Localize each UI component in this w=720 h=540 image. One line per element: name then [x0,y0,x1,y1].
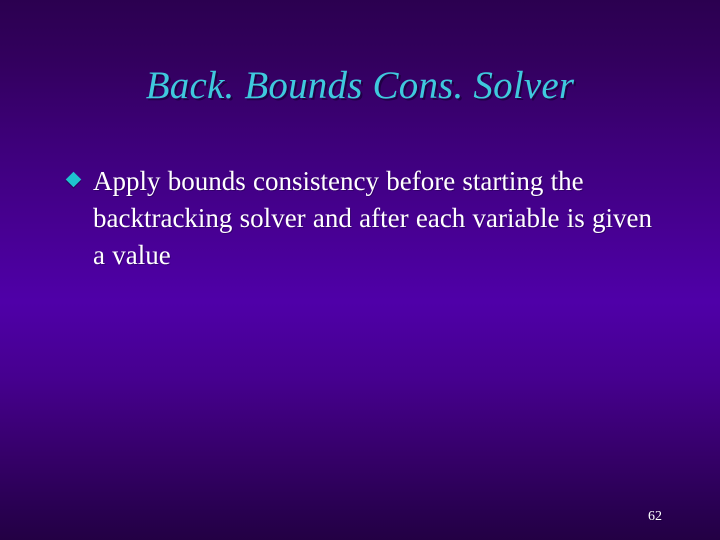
slide-body-content: Apply bounds consistency before starting… [60,163,660,274]
page-title: Back. Bounds Cons. Solver [146,66,575,107]
slide-title-container: Back. Bounds Cons. Solver [0,66,720,107]
page-number: 62 [648,510,662,524]
list-item: Apply bounds consistency before starting… [60,163,660,274]
presentation-slide: Back. Bounds Cons. Solver Apply bounds c… [0,0,720,540]
bullet-item-label: Apply bounds consistency before starting… [93,163,660,274]
diamond-bullet-icon [66,172,82,188]
